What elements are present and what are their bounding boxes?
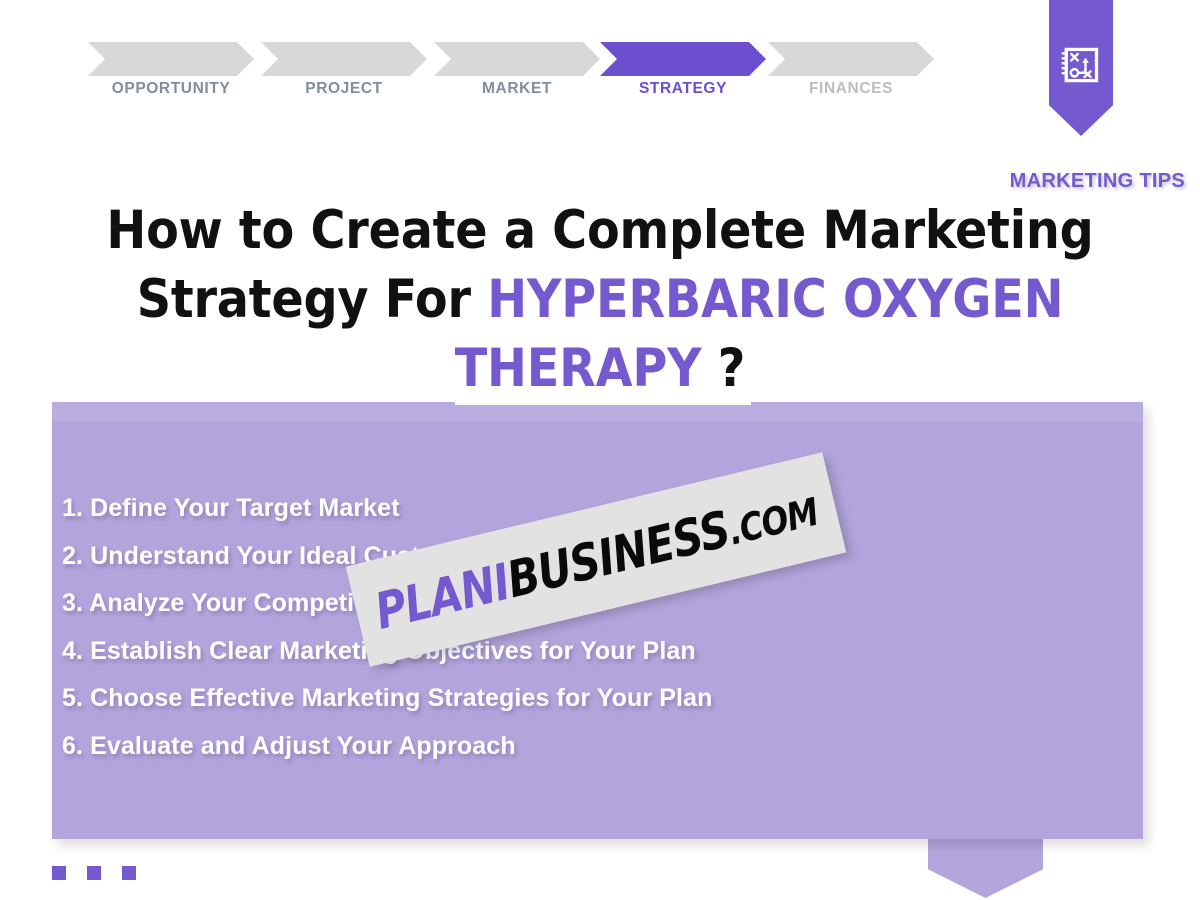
list-item: 4. Establish Clear Marketing Objectives … — [62, 628, 1062, 676]
step-chevron-strategy[interactable] — [600, 42, 766, 76]
list-item: 6. Evaluate and Adjust Your Approach — [62, 723, 1062, 771]
panel-down-arrow — [928, 838, 1043, 898]
step-label-strategy[interactable]: STRATEGY — [600, 80, 766, 98]
page-title: How to Create a Complete Marketing Strat… — [100, 196, 1100, 403]
panel-sheen — [52, 402, 1143, 422]
strategy-playbook-icon — [1055, 41, 1105, 89]
dot-icon — [122, 866, 136, 880]
step-label-finances[interactable]: FINANCES — [768, 80, 934, 98]
step-chevron-project[interactable] — [261, 42, 427, 76]
step-chevron-market[interactable] — [434, 42, 600, 76]
page-title-text: How to Create a Complete Marketing Strat… — [106, 200, 1093, 399]
dot-icon — [87, 866, 101, 880]
marketing-tips-caption: MARKETING TIPS — [0, 170, 1185, 193]
progress-steps: OPPORTUNITY PROJECT MARKET STRATEGY FINA… — [88, 42, 933, 76]
dot-icon — [52, 866, 66, 880]
continuation-dots — [52, 866, 136, 880]
page-title-highlight: HYPERBARIC OXYGEN THERAPY — [455, 269, 1064, 399]
step-chevron-finances[interactable] — [768, 42, 934, 76]
step-label-opportunity[interactable]: OPPORTUNITY — [88, 80, 254, 98]
step-label-project[interactable]: PROJECT — [261, 80, 427, 98]
list-item: 5. Choose Effective Marketing Strategies… — [62, 675, 1062, 723]
step-label-market[interactable]: MARKET — [434, 80, 600, 98]
slide-canvas: OPPORTUNITY PROJECT MARKET STRATEGY FINA… — [0, 0, 1200, 900]
step-chevron-opportunity[interactable] — [88, 42, 254, 76]
watermark-brand-a: PLANI — [369, 552, 514, 640]
watermark-brand-c: .COM — [724, 489, 822, 553]
page-title-part2: ? — [701, 338, 745, 399]
